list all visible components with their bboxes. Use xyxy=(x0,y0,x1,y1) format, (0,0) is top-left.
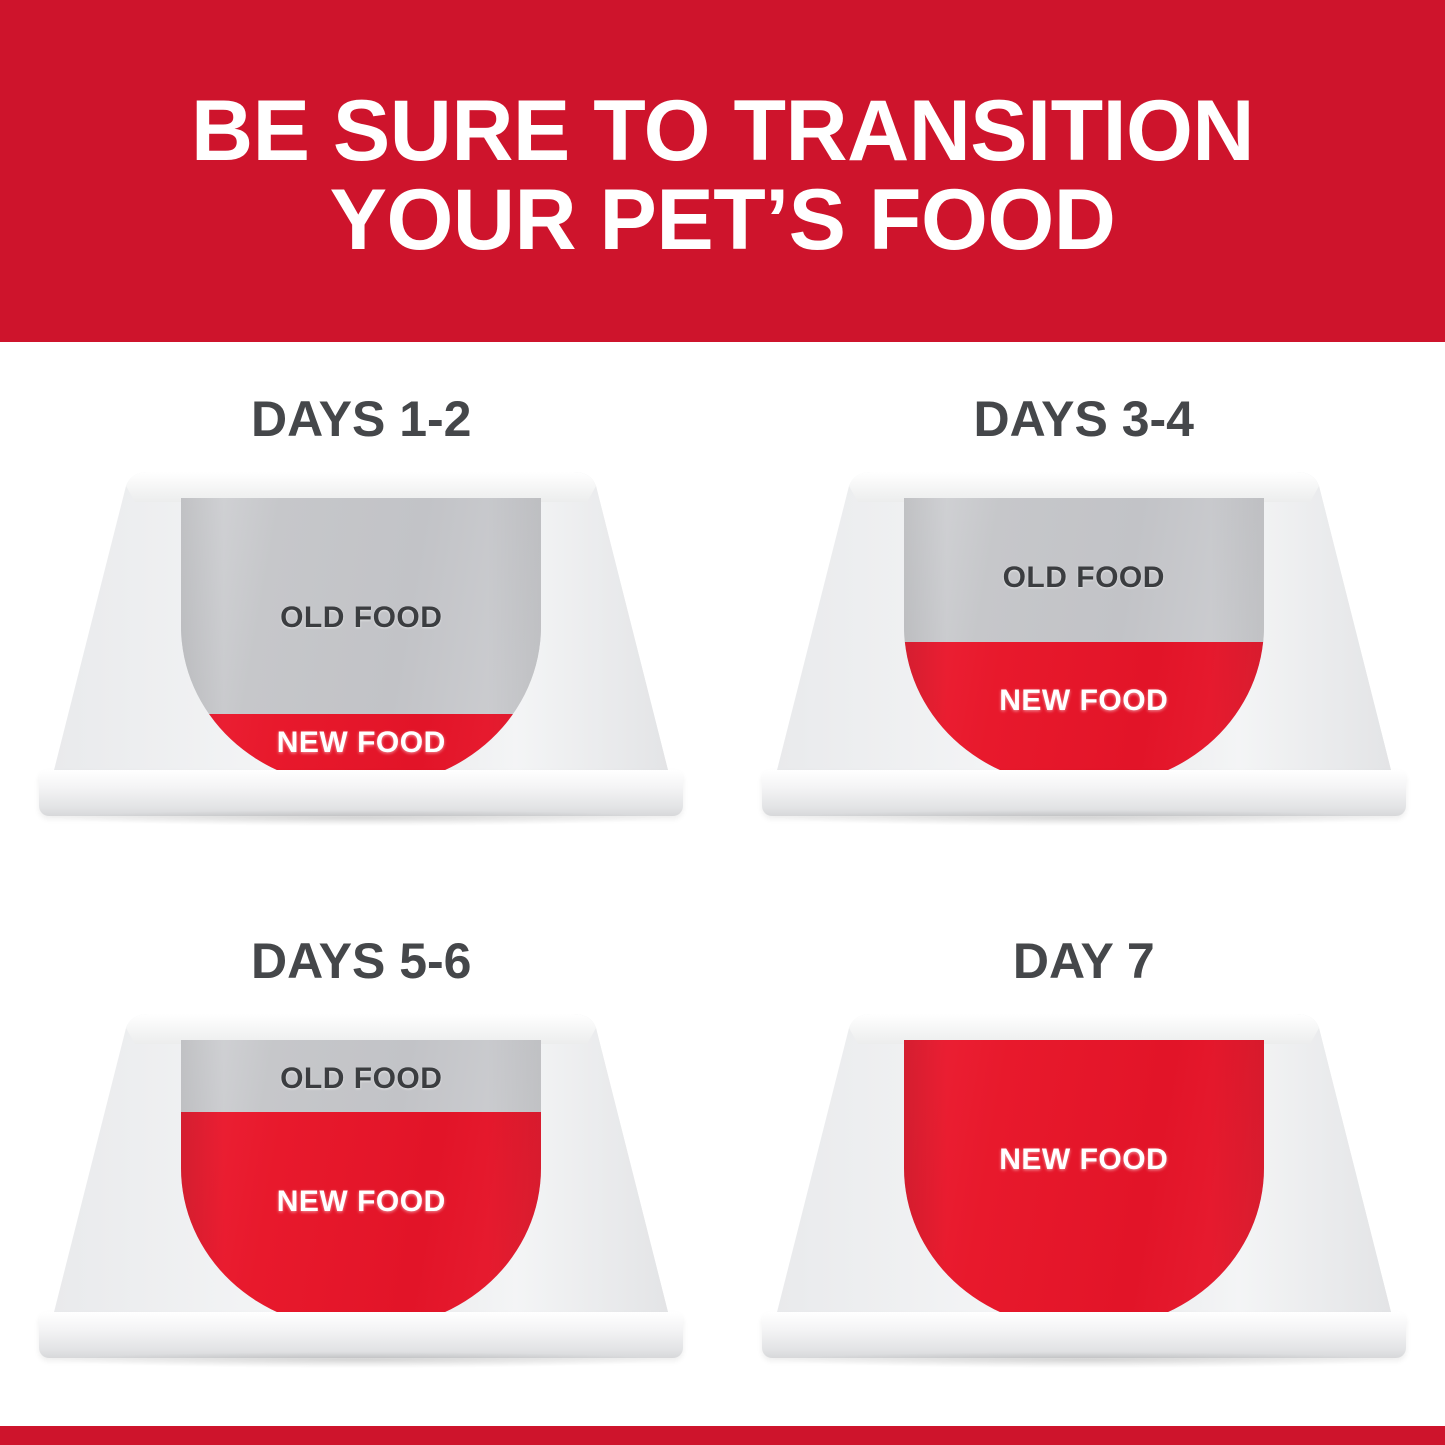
bowl-drop-shadow xyxy=(784,1352,1384,1368)
new-food-fill: NEW FOOD xyxy=(904,642,1264,786)
footer-accent-bar xyxy=(0,1426,1445,1445)
old-food-label: OLD FOOD xyxy=(181,601,541,635)
bowl-drop-shadow xyxy=(61,1352,661,1368)
new-food-label: NEW FOOD xyxy=(904,1143,1264,1177)
transition-steps-grid: DAYS 1-2 xyxy=(0,342,1445,1426)
old-food-label: OLD FOOD xyxy=(181,1062,541,1096)
food-bowl-days-3-4: OLD FOOD NEW FOOD xyxy=(754,470,1414,830)
new-food-label: NEW FOOD xyxy=(181,726,541,760)
bowl-food-window: OLD FOOD NEW FOOD xyxy=(181,1040,541,1328)
header-banner: BE SURE TO TRANSITION YOUR PET’S FOOD xyxy=(0,0,1445,342)
panel-title-days-1-2: DAYS 1-2 xyxy=(251,390,471,448)
new-food-label: NEW FOOD xyxy=(181,1185,541,1219)
food-bowl-day-7: OLD FOOD NEW FOOD xyxy=(754,1012,1414,1372)
panel-title-days-5-6: DAYS 5-6 xyxy=(251,932,471,990)
bowl-drop-shadow xyxy=(784,810,1384,826)
food-bowl-days-5-6: OLD FOOD NEW FOOD xyxy=(31,1012,691,1372)
bowl-food-window: OLD FOOD NEW FOOD xyxy=(904,1040,1264,1328)
food-bowl-days-1-2: OLD FOOD NEW FOOD xyxy=(31,470,691,830)
bowl-drop-shadow xyxy=(61,810,661,826)
panel-title-day-7: DAY 7 xyxy=(1013,932,1155,990)
header-title-line-2: YOUR PET’S FOOD xyxy=(330,176,1116,265)
transition-step-panel-days-5-6: DAYS 5-6 xyxy=(0,884,723,1426)
transition-step-panel-days-1-2: DAYS 1-2 xyxy=(0,342,723,884)
new-food-fill: NEW FOOD xyxy=(181,1112,541,1328)
transition-step-panel-day-7: DAY 7 xyxy=(723,884,1445,1426)
header-title-line-1: BE SURE TO TRANSITION xyxy=(191,87,1254,176)
old-food-label: OLD FOOD xyxy=(904,561,1264,595)
new-food-label: NEW FOOD xyxy=(904,684,1264,718)
old-food-fill: OLD FOOD xyxy=(181,1040,541,1112)
transition-step-panel-days-3-4: DAYS 3-4 xyxy=(723,342,1445,884)
panel-title-days-3-4: DAYS 3-4 xyxy=(974,390,1194,448)
new-food-fill: NEW FOOD xyxy=(904,1040,1264,1328)
bowl-food-window: OLD FOOD NEW FOOD xyxy=(904,498,1264,786)
bowl-food-window: OLD FOOD NEW FOOD xyxy=(181,498,541,786)
old-food-fill: OLD FOOD xyxy=(181,498,541,714)
old-food-fill: OLD FOOD xyxy=(904,498,1264,642)
